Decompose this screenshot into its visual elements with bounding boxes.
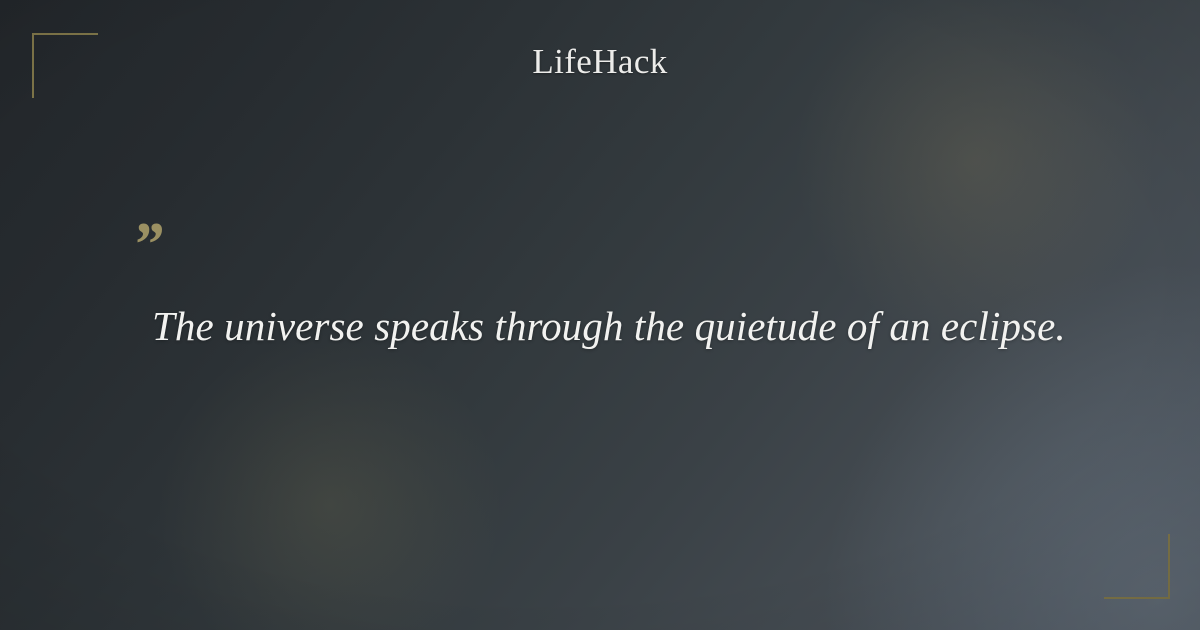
corner-bracket-bottom-right-icon <box>1104 534 1170 599</box>
quotation-mark-icon: ” <box>132 218 1092 272</box>
brand-logo: LifeHack <box>0 40 1200 84</box>
quote-card: LifeHack ” The universe speaks through t… <box>0 0 1200 630</box>
quote-text: The universe speaks through the quietude… <box>152 301 1092 351</box>
quote-block: ” The universe speaks through the quietu… <box>132 218 1092 351</box>
